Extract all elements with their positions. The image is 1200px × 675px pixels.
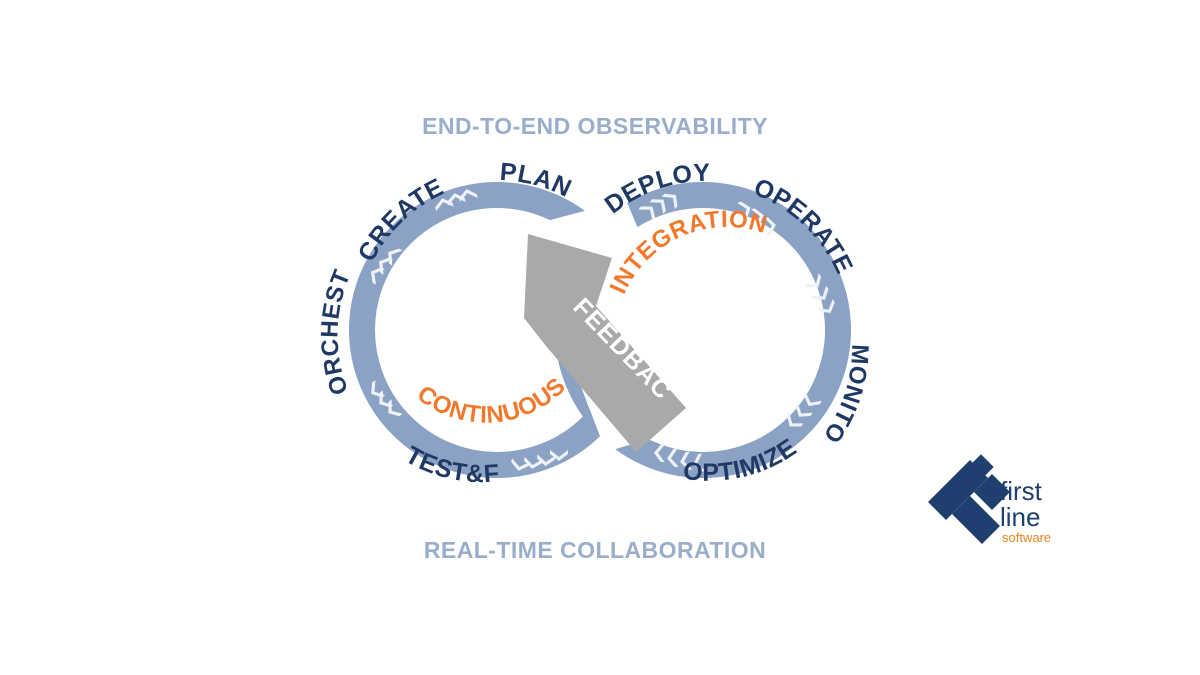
firstline-f-mark-icon: [928, 454, 1010, 544]
stage-label-orchestrate: ORCHESTRATE: [0, 0, 356, 398]
logo-line2: line: [1000, 502, 1040, 532]
left-loop-accent-label: CONTINUOUS: [412, 372, 571, 429]
heading-bottom: REAL-TIME COLLABORATION: [424, 537, 766, 563]
heading-top: END-TO-END OBSERVABILITY: [422, 113, 768, 139]
diagram-canvas: FEEDBACK PLAN CREATE ORCHESTRATE TEST&FI…: [0, 0, 1200, 675]
stage-label-testfix: TEST&FIX: [0, 0, 500, 488]
logo-wordmark: first line: [1000, 476, 1043, 532]
stage-label-optimize: OPTIMIZE: [682, 433, 802, 487]
logo-tagline: software: [1002, 530, 1051, 545]
firstline-software-logo: first line software: [928, 452, 1064, 548]
logo-svg: first line software: [928, 452, 1064, 548]
devops-infinity-diagram: FEEDBACK PLAN CREATE ORCHESTRATE TEST&FI…: [0, 0, 1200, 675]
